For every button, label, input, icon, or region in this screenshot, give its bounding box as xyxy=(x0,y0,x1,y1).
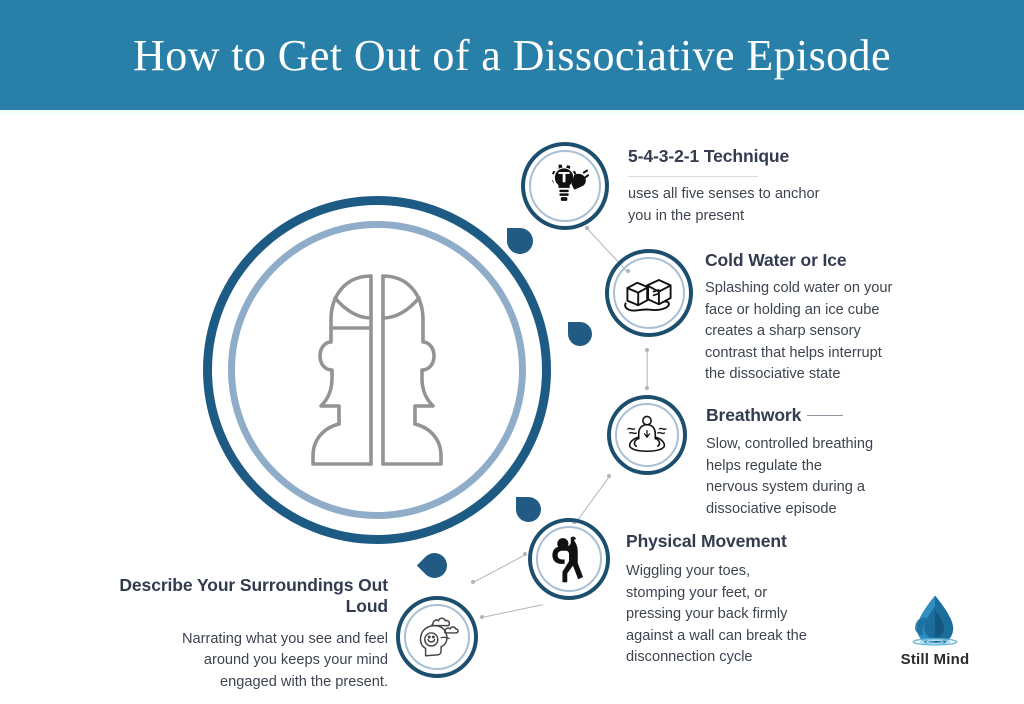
step-icon-breathwork[interactable] xyxy=(607,395,687,475)
step-icon-describe-surroundings[interactable] xyxy=(396,596,478,678)
step-icon-physical-movement[interactable] xyxy=(528,518,610,600)
connector-cold-to-breath xyxy=(646,351,647,389)
logo-wordmark: Still Mind xyxy=(901,651,970,668)
step-icon-54321[interactable] xyxy=(521,142,609,230)
page-title: How to Get Out of a Dissociative Episode xyxy=(0,0,1024,110)
teardrop-accent-4 xyxy=(417,548,452,583)
connector-dot xyxy=(480,615,484,619)
connector-dot xyxy=(607,474,611,478)
step-body: Splashing cold water on your face or hol… xyxy=(705,278,935,386)
step-text-cold-water: Cold Water or Ice Splashing cold water o… xyxy=(705,250,935,386)
step-text-physical-movement: Physical Movement Wiggling your toes, st… xyxy=(626,531,856,669)
step-text-describe-surroundings: Describe Your Surroundings Out Loud Narr… xyxy=(118,575,388,693)
brand-logo: Still Mind xyxy=(882,592,988,680)
split-person-dissociation-icon xyxy=(305,268,449,472)
meditation-lotus-pose-icon xyxy=(623,411,671,459)
step-body: Narrating what you see and feel around y… xyxy=(118,629,388,694)
step-heading: Breathwork xyxy=(706,405,801,426)
step-text-54321: 5-4-3-2-1 Technique uses all five senses… xyxy=(628,146,898,227)
connector-dot xyxy=(471,580,475,584)
lightbulb-gear-hand-idea-icon xyxy=(537,158,593,214)
connector-dot xyxy=(585,226,589,230)
connector-describe-tail xyxy=(482,604,543,618)
stretching-person-icon xyxy=(544,534,594,584)
teardrop-accent-3 xyxy=(516,497,541,522)
teardrop-accent-1 xyxy=(507,228,533,254)
head-with-thought-clouds-icon xyxy=(412,612,462,662)
step-heading: Describe Your Surroundings Out Loud xyxy=(118,575,388,618)
step-text-breathwork: Breathwork Slow, controlled breathing he… xyxy=(706,405,926,520)
heading-underrule xyxy=(628,176,758,177)
step-body: Wiggling your toes, stomping your feet, … xyxy=(626,561,856,669)
infographic-poster: How to Get Out of a Dissociative Episode xyxy=(0,0,1024,704)
connector-dot xyxy=(645,348,649,352)
connector-dot xyxy=(645,386,649,390)
connector-dot xyxy=(523,552,527,556)
step-heading: Cold Water or Ice xyxy=(705,250,935,271)
water-droplet-ripple-icon xyxy=(906,592,964,650)
connector-breath-to-move xyxy=(574,476,609,524)
heading-rule-line xyxy=(807,415,843,417)
header-underline xyxy=(0,110,1024,114)
step-heading: Physical Movement xyxy=(626,531,856,552)
ice-cubes-icon xyxy=(621,265,677,321)
teardrop-accent-2 xyxy=(568,322,592,346)
step-heading-row: Breathwork xyxy=(706,405,926,426)
step-body: Slow, controlled breathing helps regulat… xyxy=(706,434,926,520)
step-body: uses all five senses to anchor you in th… xyxy=(628,184,898,227)
step-heading: 5-4-3-2-1 Technique xyxy=(628,146,898,167)
connector-move-to-describe xyxy=(473,554,525,582)
step-icon-cold-water[interactable] xyxy=(605,249,693,337)
